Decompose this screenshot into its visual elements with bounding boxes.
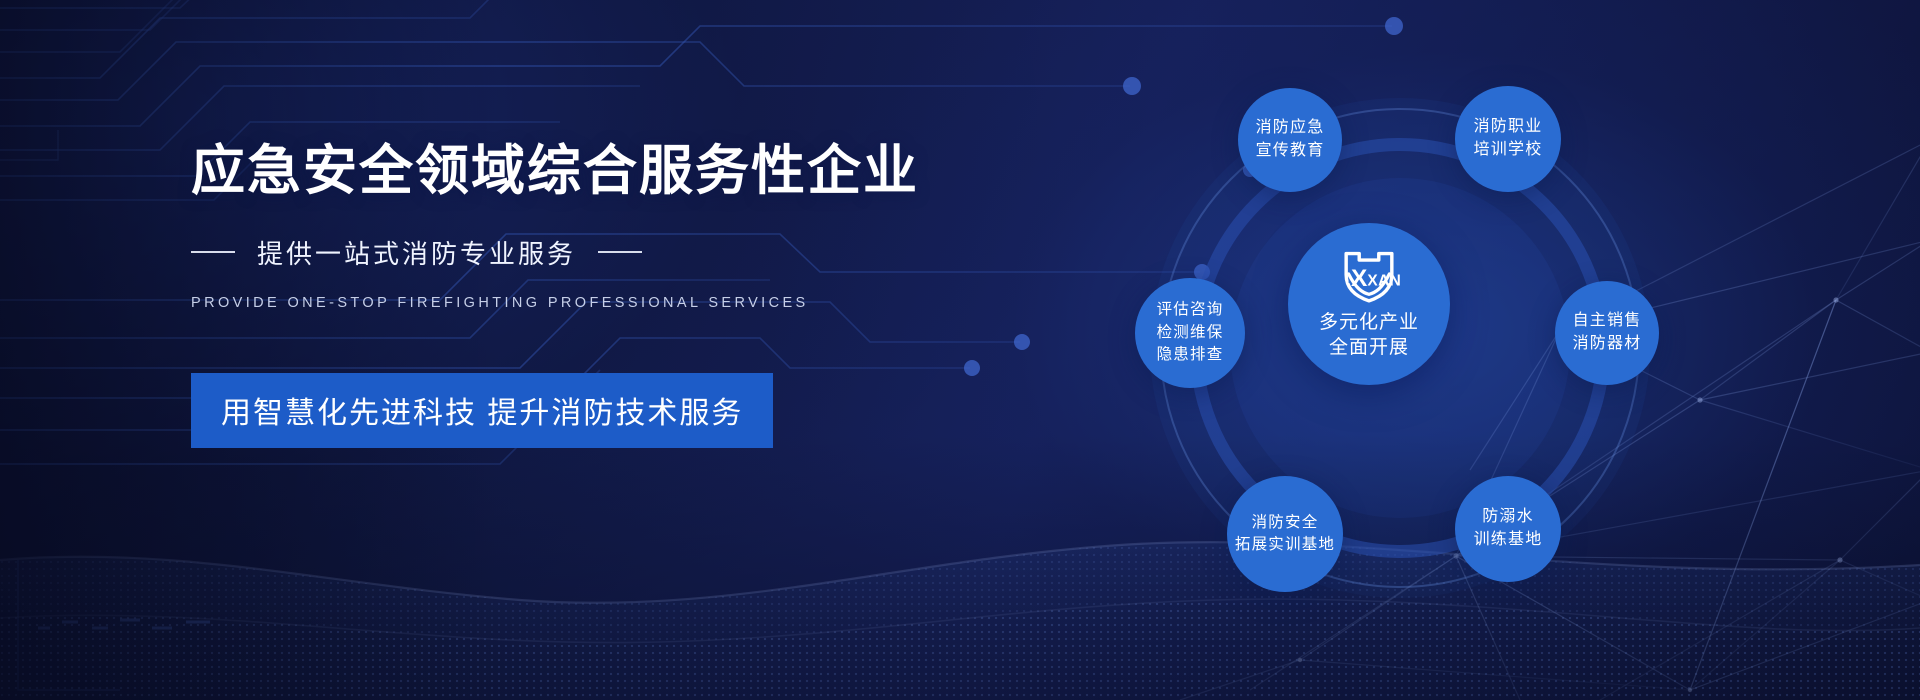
node-line-1: 消防应急 [1256, 117, 1325, 140]
svg-text:X: X [1351, 265, 1368, 292]
svg-text:XAN: XAN [1367, 273, 1400, 290]
diagram-node-left[interactable]: 评估咨询 检测维保 隐患排查 [1135, 278, 1245, 388]
diagram-node-bottom-right[interactable]: 防溺水 训练基地 [1455, 476, 1561, 582]
node-line-2: 宣传教育 [1256, 140, 1325, 163]
dash-left-decoration [191, 251, 235, 253]
circuit-ticks-icon [38, 620, 210, 628]
center-line-2: 全面开展 [1319, 336, 1419, 361]
hero-banner: 应急安全领域综合服务性企业 提供一站式消防专业服务 PROVIDE ONE-ST… [0, 0, 1920, 700]
diagram-center-node[interactable]: X XAN 多元化产业 全面开展 [1288, 223, 1450, 385]
diagram-node-bottom-left[interactable]: 消防安全 拓展实训基地 [1227, 476, 1343, 592]
corner-frame-icon [0, 130, 120, 690]
node-line-1: 自主销售 [1573, 310, 1642, 333]
diagram-center-label: 多元化产业 全面开展 [1319, 311, 1419, 360]
node-line-2: 培训学校 [1474, 139, 1543, 162]
page-title: 应急安全领域综合服务性企业 [191, 140, 1011, 204]
page-subtitle: 提供一站式消防专业服务 [257, 234, 576, 271]
node-line-2: 训练基地 [1474, 529, 1543, 552]
node-line-2: 检测维保 [1157, 322, 1224, 344]
node-line-2: 拓展实训基地 [1235, 534, 1335, 556]
node-line-1: 消防安全 [1252, 512, 1319, 534]
subtitle-row: 提供一站式消防专业服务 [191, 234, 1011, 271]
english-tagline: PROVIDE ONE-STOP FIREFIGHTING PROFESSION… [191, 295, 1011, 311]
center-line-1: 多元化产业 [1319, 311, 1419, 336]
diagram-node-top-right[interactable]: 消防职业 培训学校 [1455, 86, 1561, 192]
node-line-2: 消防器材 [1573, 333, 1642, 356]
diagram-node-right[interactable]: 自主销售 消防器材 [1555, 281, 1659, 385]
node-line-1: 评估咨询 [1157, 299, 1224, 321]
cta-button[interactable]: 用智慧化先进科技 提升消防技术服务 [191, 373, 773, 448]
node-line-3: 隐患排查 [1157, 344, 1224, 366]
diagram-node-top-left[interactable]: 消防应急 宣传教育 [1238, 88, 1342, 192]
hero-text-block: 应急安全领域综合服务性企业 提供一站式消防专业服务 PROVIDE ONE-ST… [191, 140, 1011, 448]
node-line-1: 消防职业 [1474, 116, 1543, 139]
services-circle-diagram: X XAN 多元化产业 全面开展 消防应急 宣传教育 消防职业 培训学校 自主销… [1130, 78, 1670, 618]
node-line-1: 防溺水 [1482, 506, 1534, 529]
xan-shield-logo-icon: X XAN [1338, 247, 1400, 305]
cta-button-label: 用智慧化先进科技 提升消防技术服务 [221, 388, 743, 432]
dash-right-decoration [598, 251, 642, 253]
